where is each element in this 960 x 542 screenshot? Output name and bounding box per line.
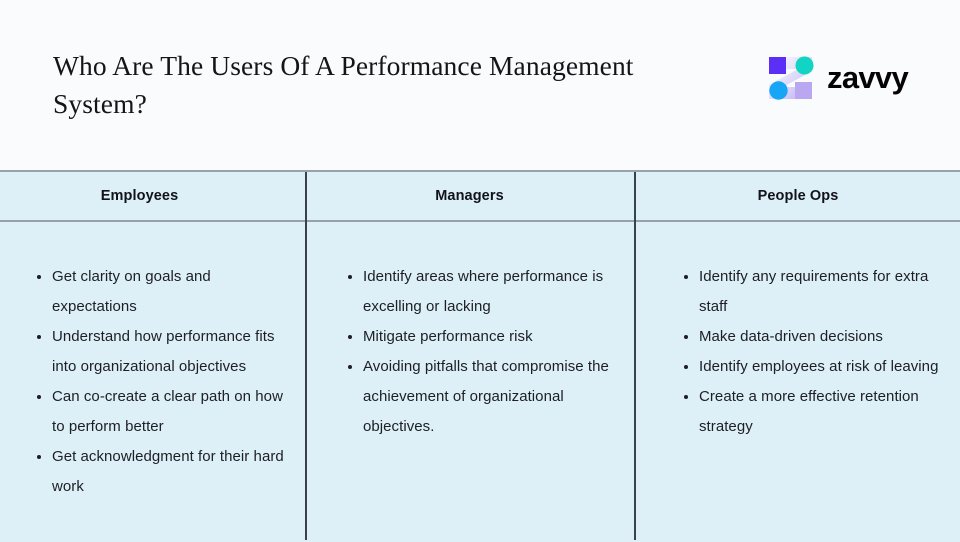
zavvy-logo: zavvy [767,55,908,101]
list-item: Identify employees at risk of leaving [699,352,949,382]
list-item: Identify any requirements for extra staf… [699,262,949,322]
bullet-list-employees: Get clarity on goals and expectations Un… [52,262,298,502]
table-column-employees: Employees Get clarity on goals and expec… [0,172,305,540]
list-item: Avoiding pitfalls that compromise the ac… [363,352,615,442]
users-comparison-table: Employees Get clarity on goals and expec… [0,170,960,542]
column-header-managers: Managers [307,172,634,222]
table-column-people-ops: People Ops Identify any requirements for… [634,172,960,540]
table-grid: Employees Get clarity on goals and expec… [0,172,960,540]
list-item: Can co-create a clear path on how to per… [52,382,298,442]
zavvy-logo-mark [767,55,814,101]
list-item: Get clarity on goals and expectations [52,262,298,322]
page-title: Who Are The Users Of A Performance Manag… [53,47,653,123]
list-item: Create a more effective retention strate… [699,382,949,442]
column-header-label: People Ops [758,188,839,204]
column-header-label: Employees [101,188,178,204]
column-body-managers: Identify areas where performance is exce… [307,222,634,442]
list-item: Make data-driven decisions [699,322,949,352]
zavvy-wordmark: zavvy [827,62,908,95]
bullet-list-managers: Identify areas where performance is exce… [363,262,615,442]
list-item: Identify areas where performance is exce… [363,262,615,322]
column-header-people-ops: People Ops [636,172,960,222]
column-header-label: Managers [435,188,504,204]
list-item: Get acknowledgment for their hard work [52,442,298,502]
slide-header: Who Are The Users Of A Performance Manag… [0,0,960,170]
column-body-employees: Get clarity on goals and expectations Un… [0,222,305,502]
table-column-managers: Managers Identify areas where performanc… [305,172,634,540]
column-body-people-ops: Identify any requirements for extra staf… [636,222,960,442]
slide-root: Who Are The Users Of A Performance Manag… [0,0,960,540]
column-header-employees: Employees [0,172,305,222]
list-item: Mitigate performance risk [363,322,615,352]
bullet-list-people-ops: Identify any requirements for extra staf… [699,262,949,442]
list-item: Understand how performance fits into org… [52,322,298,382]
